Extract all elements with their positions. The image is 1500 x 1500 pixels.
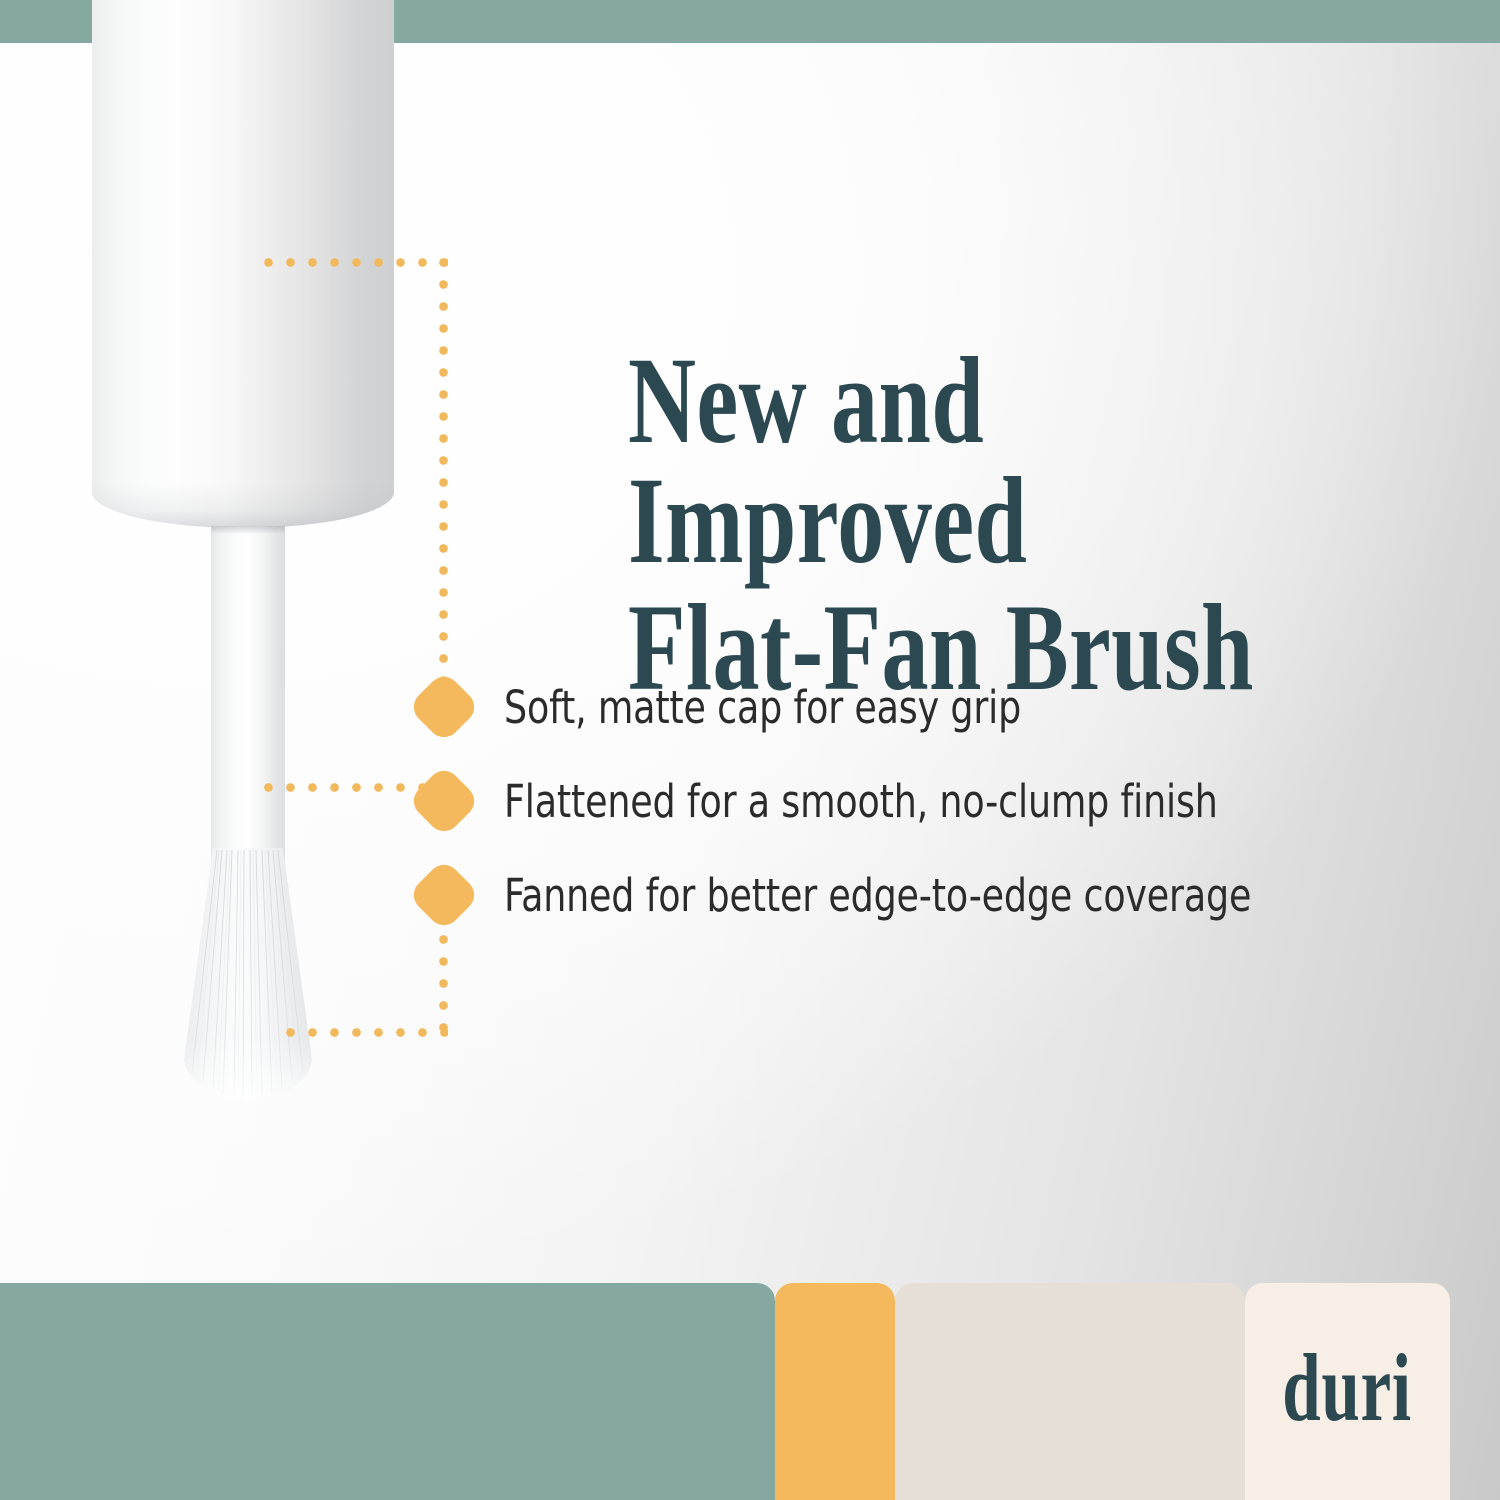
brush-handle-joint	[211, 526, 285, 534]
feature-label: Flattened for a smooth, no-clump finish	[504, 775, 1218, 828]
brush-handle	[211, 526, 285, 901]
feature-item: Flattened for a smooth, no-clump finish	[418, 754, 1458, 848]
connector-to-cap-horizontal	[264, 258, 448, 267]
brush-cap-shading	[92, 482, 394, 528]
feature-label: Fanned for better edge-to-edge coverage	[504, 869, 1251, 922]
brush-bristles	[172, 848, 324, 1106]
footer-block-beige	[895, 1283, 1245, 1500]
feature-list: Soft, matte cap for easy grip Flattened …	[418, 660, 1458, 942]
feature-item: Soft, matte cap for easy grip	[418, 660, 1458, 754]
diamond-bullet-icon	[407, 670, 481, 744]
brand-logo: duri	[1283, 1340, 1413, 1436]
footer-block-cream: duri	[1245, 1283, 1450, 1500]
page-title: New and Improved Flat-Fan Brush	[628, 341, 1259, 708]
diamond-bullet-icon	[407, 764, 481, 838]
footer-block-green	[0, 1283, 775, 1500]
connector-to-bristles-horizontal	[286, 1028, 448, 1037]
nail-polish-brush-photo	[0, 43, 470, 1143]
feature-label: Soft, matte cap for easy grip	[504, 681, 1021, 734]
diamond-bullet-icon	[407, 858, 481, 932]
footer-block-amber	[775, 1283, 895, 1500]
footer-color-bar: duri	[0, 1283, 1500, 1500]
headline-line-1: New and Improved	[628, 341, 1259, 582]
infographic-canvas: New and Improved Flat-Fan Brush Soft, ma…	[0, 0, 1500, 1500]
connector-to-cap-vertical	[439, 258, 448, 688]
feature-item: Fanned for better edge-to-edge coverage	[418, 848, 1458, 942]
